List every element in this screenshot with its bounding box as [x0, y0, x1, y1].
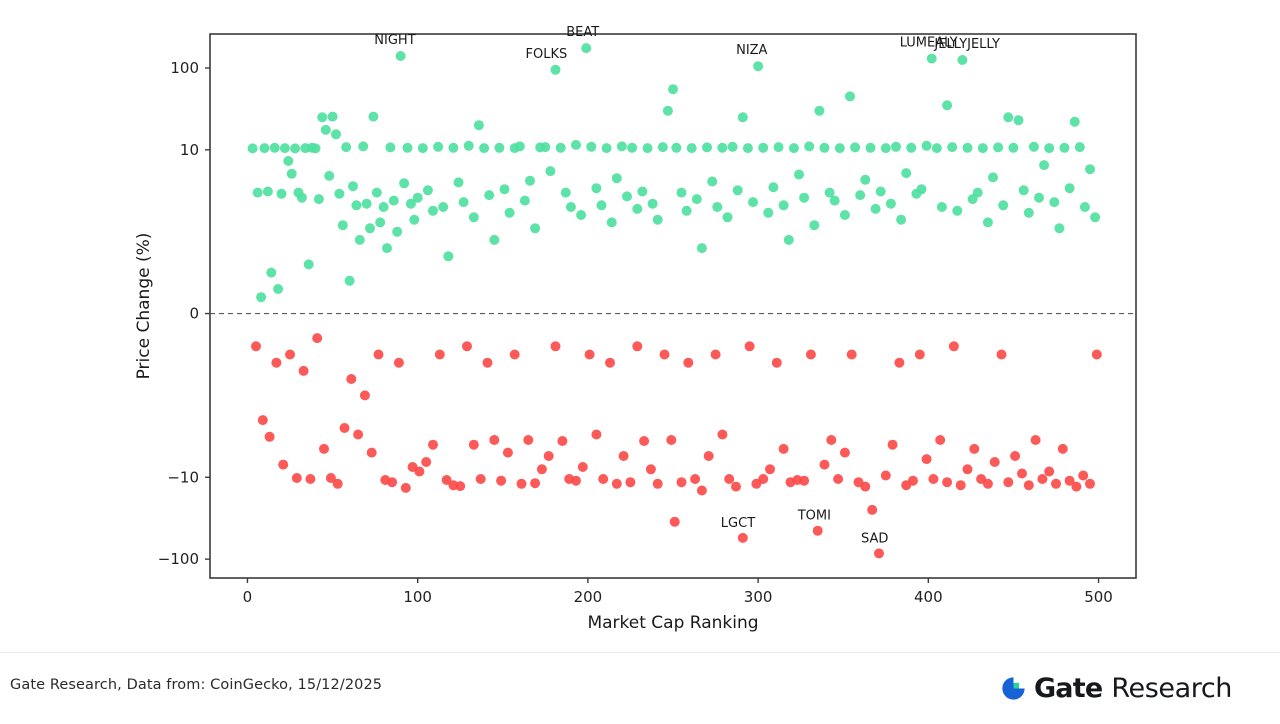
data-point	[1031, 435, 1041, 445]
data-point	[525, 176, 535, 186]
data-point	[515, 141, 525, 151]
data-point	[469, 212, 479, 222]
point-label-niza: NIZA	[736, 43, 767, 58]
data-point	[396, 51, 406, 61]
x-tick-label: 0	[243, 588, 253, 606]
data-point	[794, 170, 804, 180]
data-point	[358, 141, 368, 151]
data-point	[581, 43, 591, 53]
data-point	[578, 462, 588, 472]
data-point	[433, 142, 443, 152]
data-point	[283, 156, 293, 166]
data-point	[277, 189, 287, 199]
data-point	[403, 143, 413, 153]
data-point	[632, 341, 642, 351]
data-point	[1014, 115, 1024, 125]
data-point	[772, 358, 782, 368]
data-point	[1017, 469, 1027, 479]
data-point	[505, 208, 515, 218]
data-point	[692, 194, 702, 204]
data-point	[896, 215, 906, 225]
data-point	[367, 448, 377, 458]
data-point	[826, 435, 836, 445]
data-point	[809, 220, 819, 230]
data-point	[683, 358, 693, 368]
data-point	[983, 479, 993, 489]
data-point	[385, 142, 395, 152]
data-point	[591, 183, 601, 193]
data-point	[1080, 202, 1090, 212]
data-point	[248, 143, 258, 153]
data-point	[271, 358, 281, 368]
data-point	[763, 208, 773, 218]
data-point	[414, 467, 424, 477]
point-label-night: NIGHT	[374, 33, 415, 48]
brand-research-text: Research	[1111, 675, 1232, 702]
data-point	[860, 482, 870, 492]
data-point	[1085, 479, 1095, 489]
data-point	[743, 143, 753, 153]
data-point	[1071, 482, 1081, 492]
data-point	[503, 448, 513, 458]
data-point	[806, 350, 816, 360]
data-point	[874, 548, 884, 558]
data-point	[1090, 212, 1100, 222]
gate-logo-icon	[1000, 675, 1027, 702]
data-point	[922, 141, 932, 151]
x-tick-label: 100	[403, 588, 432, 606]
data-point	[340, 423, 350, 433]
data-point	[677, 188, 687, 198]
data-point	[362, 199, 372, 209]
data-point	[304, 259, 314, 269]
data-point	[520, 196, 530, 206]
data-point	[292, 473, 302, 483]
chart-figure: 0100200300400500−100−10010100Market Cap …	[0, 0, 1280, 652]
data-point	[867, 505, 877, 515]
data-point	[413, 193, 423, 203]
data-point	[915, 350, 925, 360]
data-point	[789, 143, 799, 153]
data-point	[738, 112, 748, 122]
data-point	[860, 175, 870, 185]
data-point	[317, 112, 327, 122]
data-point	[483, 358, 493, 368]
data-point	[459, 197, 469, 207]
data-point	[753, 61, 763, 71]
brand-gate-text: Gate	[1034, 675, 1102, 702]
data-point	[833, 474, 843, 484]
data-point	[617, 141, 627, 151]
data-point	[653, 479, 663, 489]
data-point	[258, 415, 268, 425]
data-point	[724, 474, 734, 484]
data-point	[935, 435, 945, 445]
data-point	[374, 350, 384, 360]
data-point	[561, 188, 571, 198]
data-point	[500, 184, 510, 194]
data-point	[464, 141, 474, 151]
data-point	[353, 430, 363, 440]
data-point	[820, 460, 830, 470]
data-point	[571, 140, 581, 150]
data-point	[957, 55, 967, 65]
data-point	[260, 143, 270, 153]
data-point	[1060, 143, 1070, 153]
data-point	[990, 457, 1000, 467]
data-point	[418, 143, 428, 153]
data-point	[894, 358, 904, 368]
data-point	[758, 143, 768, 153]
data-point	[494, 143, 504, 153]
data-point	[881, 471, 891, 481]
y-tick-label: −10	[167, 468, 199, 486]
data-point	[1024, 208, 1034, 218]
data-point	[993, 142, 1003, 152]
data-point	[566, 202, 576, 212]
data-point	[435, 350, 445, 360]
data-point	[387, 477, 397, 487]
data-point	[443, 251, 453, 261]
data-point	[556, 143, 566, 153]
data-point	[804, 141, 814, 151]
data-point	[1051, 479, 1061, 489]
data-point	[311, 143, 321, 153]
data-point	[285, 350, 295, 360]
data-point	[537, 464, 547, 474]
data-point	[586, 142, 596, 152]
data-point	[666, 435, 676, 445]
data-point	[328, 112, 338, 122]
point-label-lgct: LGCT	[721, 516, 755, 531]
data-point	[428, 206, 438, 216]
data-point	[591, 430, 601, 440]
data-point	[947, 142, 957, 152]
data-point	[545, 166, 555, 176]
data-point	[942, 100, 952, 110]
data-point	[251, 341, 261, 351]
data-point	[266, 268, 276, 278]
data-point	[712, 202, 722, 212]
data-point	[368, 112, 378, 122]
data-point	[697, 486, 707, 496]
data-point	[496, 476, 506, 486]
data-point	[949, 341, 959, 351]
data-point	[338, 220, 348, 230]
data-point	[891, 142, 901, 152]
data-point	[351, 200, 361, 210]
data-point	[605, 358, 615, 368]
data-point	[648, 199, 658, 209]
point-label-jellyjelly: JELLYJELLY	[933, 37, 1000, 52]
data-point	[997, 350, 1007, 360]
data-point	[1003, 112, 1013, 122]
point-label-beat: BEAT	[566, 25, 599, 40]
data-point	[1058, 444, 1068, 454]
data-point	[963, 143, 973, 153]
data-point	[917, 184, 927, 194]
data-point	[845, 91, 855, 101]
data-point	[1034, 193, 1044, 203]
data-point	[474, 120, 484, 130]
data-point	[937, 202, 947, 212]
data-point	[270, 143, 280, 153]
data-point	[1008, 143, 1018, 153]
data-point	[978, 143, 988, 153]
data-point	[479, 143, 489, 153]
data-point	[341, 142, 351, 152]
data-point	[704, 451, 714, 461]
data-point	[382, 243, 392, 253]
data-point	[297, 193, 307, 203]
data-point	[571, 476, 581, 486]
x-axis-title: Market Cap Ranking	[587, 613, 758, 633]
data-point	[1054, 223, 1064, 233]
series-losers	[251, 333, 1102, 558]
data-point	[768, 182, 778, 192]
data-point	[973, 188, 983, 198]
data-point	[1078, 471, 1088, 481]
data-point	[733, 185, 743, 195]
data-point	[668, 84, 678, 94]
data-point	[510, 350, 520, 360]
data-point	[612, 479, 622, 489]
data-point	[1024, 480, 1034, 490]
data-point	[799, 193, 809, 203]
data-point	[625, 477, 635, 487]
data-point	[1003, 477, 1013, 487]
data-point	[454, 177, 464, 187]
data-point	[813, 526, 823, 536]
data-point	[779, 444, 789, 454]
point-label-folks: FOLKS	[526, 47, 568, 62]
data-point	[784, 235, 794, 245]
data-point	[1044, 143, 1054, 153]
data-point	[830, 196, 840, 206]
data-point	[265, 432, 275, 442]
data-point	[660, 350, 670, 360]
data-point	[619, 451, 629, 461]
data-point	[523, 435, 533, 445]
data-point	[728, 142, 738, 152]
data-point	[639, 436, 649, 446]
data-point	[627, 143, 637, 153]
data-point	[906, 143, 916, 153]
data-point	[671, 143, 681, 153]
data-point	[602, 143, 612, 153]
data-point	[799, 476, 809, 486]
y-tick-label: 10	[180, 141, 199, 159]
data-point	[653, 215, 663, 225]
data-point	[263, 187, 273, 197]
data-point	[280, 143, 290, 153]
data-point	[551, 341, 561, 351]
data-point	[835, 143, 845, 153]
gate-research-logo: Gate Research	[1000, 671, 1232, 705]
plot-frame	[210, 34, 1136, 578]
data-point	[348, 181, 358, 191]
data-point	[983, 217, 993, 227]
data-point	[646, 464, 656, 474]
data-point	[455, 481, 465, 491]
y-tick-label: 0	[189, 305, 199, 323]
data-point	[438, 202, 448, 212]
data-point	[677, 477, 687, 487]
data-point	[658, 142, 668, 152]
data-point	[1019, 185, 1029, 195]
data-point	[333, 479, 343, 489]
data-point	[1029, 142, 1039, 152]
x-tick-label: 300	[744, 588, 773, 606]
data-point	[758, 474, 768, 484]
data-point	[448, 143, 458, 153]
data-point	[670, 517, 680, 527]
data-point	[392, 227, 402, 237]
data-point	[942, 477, 952, 487]
data-point	[886, 199, 896, 209]
data-point	[319, 444, 329, 454]
data-point	[1085, 164, 1095, 174]
data-point	[866, 143, 876, 153]
data-point	[598, 474, 608, 484]
data-point	[928, 474, 938, 484]
data-point	[334, 189, 344, 199]
data-point	[305, 474, 315, 484]
data-point	[321, 125, 331, 135]
data-point	[489, 435, 499, 445]
y-axis-title: Price Change (%)	[134, 233, 154, 380]
data-point	[399, 178, 409, 188]
data-point	[711, 350, 721, 360]
data-point	[731, 482, 741, 492]
data-point	[738, 533, 748, 543]
data-point	[840, 210, 850, 220]
data-point	[1010, 451, 1020, 461]
data-point	[745, 341, 755, 351]
data-point	[632, 204, 642, 214]
figure-footer: Gate Research, Data from: CoinGecko, 15/…	[0, 652, 1280, 724]
data-point	[476, 474, 486, 484]
data-point	[489, 235, 499, 245]
data-point	[421, 457, 431, 467]
data-point	[375, 217, 385, 227]
data-point	[952, 206, 962, 216]
point-label-sad: SAD	[861, 531, 888, 546]
data-point	[956, 480, 966, 490]
data-point	[484, 190, 494, 200]
data-point	[278, 460, 288, 470]
data-point	[717, 143, 727, 153]
data-point	[299, 366, 309, 376]
data-point	[331, 129, 341, 139]
data-point	[517, 479, 527, 489]
data-point	[840, 448, 850, 458]
data-point	[682, 206, 692, 216]
data-point	[312, 333, 322, 343]
data-point	[557, 436, 567, 446]
data-point	[988, 172, 998, 182]
data-point	[637, 187, 647, 197]
data-point	[372, 188, 382, 198]
data-point	[365, 223, 375, 233]
data-point	[355, 235, 365, 245]
data-point	[697, 243, 707, 253]
data-point	[717, 430, 727, 440]
data-point	[847, 350, 857, 360]
data-point	[314, 194, 324, 204]
data-point	[690, 474, 700, 484]
series-gainers	[248, 43, 1101, 302]
data-point	[663, 106, 673, 116]
data-point	[597, 200, 607, 210]
data-point	[530, 478, 540, 488]
data-point	[1044, 467, 1054, 477]
data-point	[855, 190, 865, 200]
data-point	[256, 292, 266, 302]
data-point	[1037, 474, 1047, 484]
data-point	[850, 142, 860, 152]
data-point	[401, 483, 411, 493]
data-point	[612, 173, 622, 183]
data-point	[1039, 160, 1049, 170]
data-point	[998, 200, 1008, 210]
data-point	[702, 142, 712, 152]
scatter-plot: 0100200300400500−100−10010100Market Cap …	[0, 0, 1280, 652]
data-point	[927, 54, 937, 64]
data-point	[394, 358, 404, 368]
data-point	[462, 341, 472, 351]
data-point	[253, 188, 263, 198]
data-point	[576, 210, 586, 220]
data-point	[290, 143, 300, 153]
x-tick-label: 400	[914, 588, 943, 606]
data-point	[774, 142, 784, 152]
data-point	[963, 464, 973, 474]
data-point	[346, 374, 356, 384]
data-point	[1075, 142, 1085, 152]
data-point	[360, 390, 370, 400]
data-point	[820, 143, 830, 153]
data-point	[707, 177, 717, 187]
data-point	[622, 191, 632, 201]
data-point	[287, 169, 297, 179]
data-point	[1049, 197, 1059, 207]
data-point	[779, 200, 789, 210]
source-credit: Gate Research, Data from: CoinGecko, 15/…	[10, 677, 382, 693]
data-point	[881, 143, 891, 153]
data-point	[876, 187, 886, 197]
data-point	[723, 212, 733, 222]
data-point	[389, 196, 399, 206]
data-point	[643, 143, 653, 153]
data-point	[409, 215, 419, 225]
data-point	[908, 476, 918, 486]
data-point	[871, 204, 881, 214]
data-point	[748, 197, 758, 207]
x-tick-label: 500	[1084, 588, 1113, 606]
data-point	[428, 440, 438, 450]
data-point	[1065, 183, 1075, 193]
y-tick-label: −100	[158, 550, 199, 568]
data-point	[345, 276, 355, 286]
data-point	[585, 350, 595, 360]
data-point	[273, 284, 283, 294]
data-point	[530, 223, 540, 233]
data-point	[551, 65, 561, 75]
data-point	[814, 106, 824, 116]
data-point	[469, 440, 479, 450]
y-tick-label: 100	[170, 59, 199, 77]
